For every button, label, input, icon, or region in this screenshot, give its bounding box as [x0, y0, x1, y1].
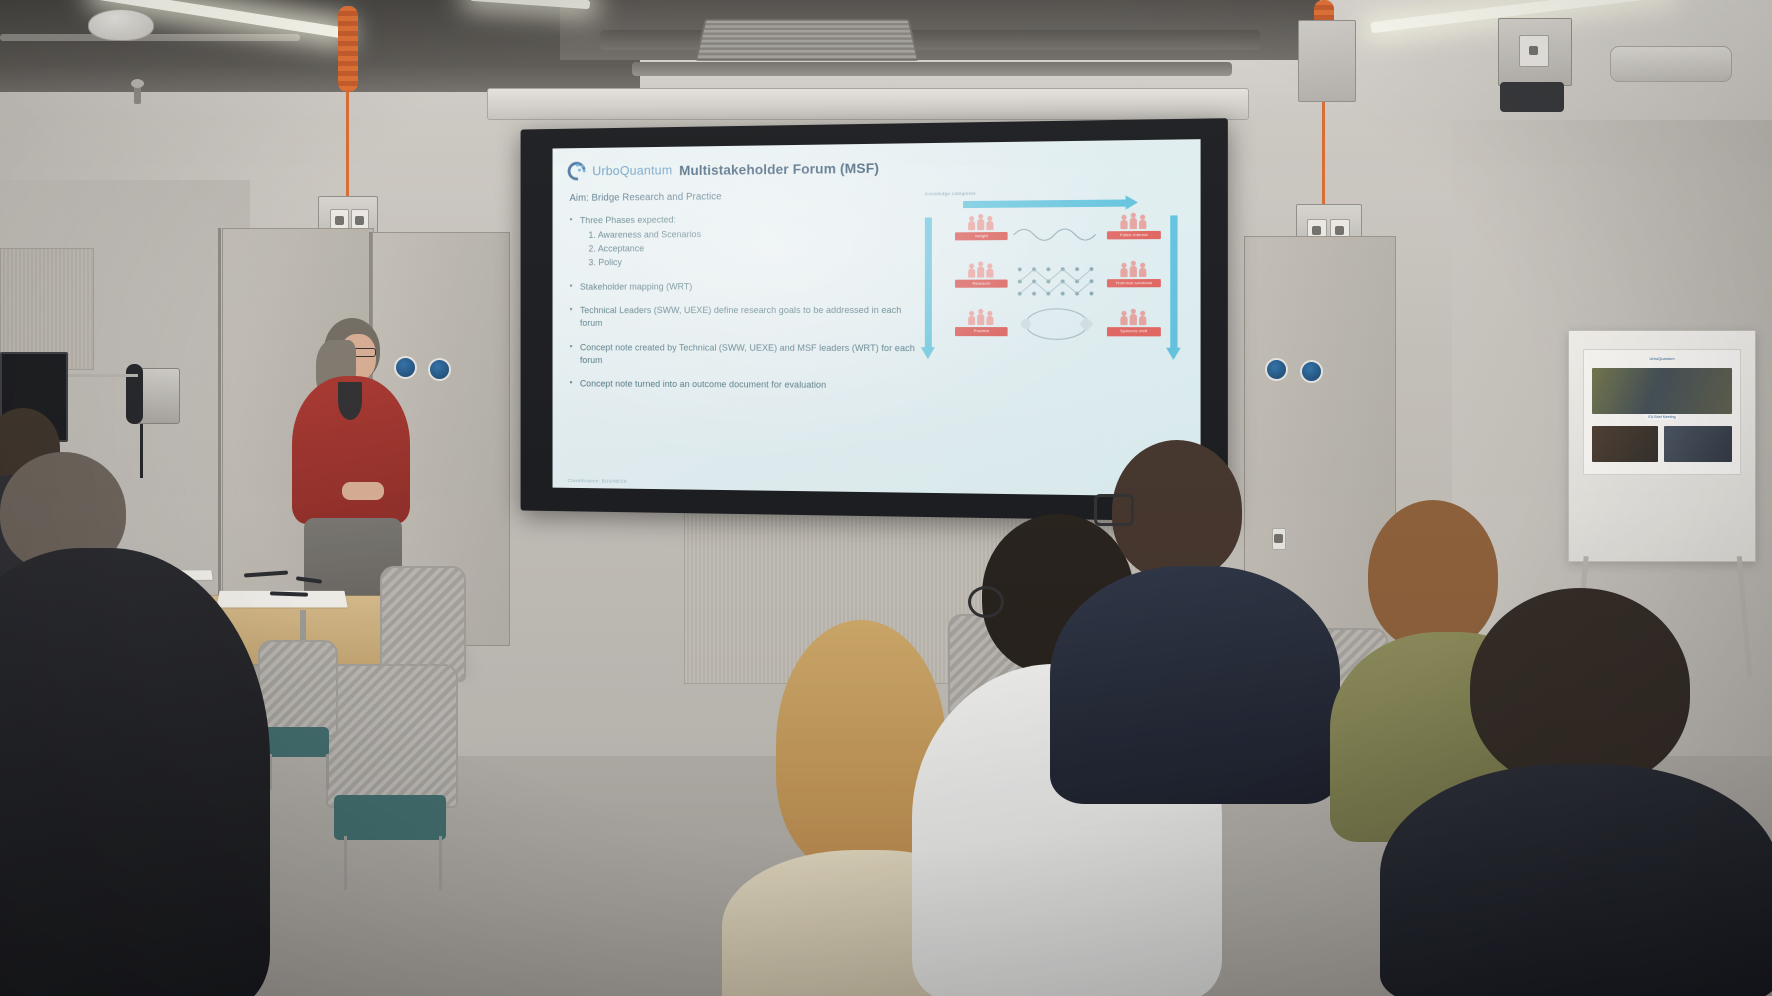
people-group-icon — [968, 310, 994, 325]
wall-poster: UrboQuantum EU Brief Meeting — [1583, 349, 1741, 475]
diagram-node-label: Practice — [955, 327, 1008, 335]
diagram-svg — [1012, 218, 1115, 349]
slide-aim: Aim: Bridge Research and Practice — [570, 189, 916, 203]
slide-text-column: Aim: Bridge Research and Practice Three … — [568, 189, 915, 404]
torso — [1380, 764, 1772, 996]
slide-phase-list: Awareness and Scenarios Acceptance Polic… — [588, 227, 915, 270]
chair[interactable] — [326, 664, 454, 890]
phone-handset-icon[interactable] — [126, 364, 143, 424]
sprinkler-head-icon — [134, 86, 141, 104]
diagram-node: Research — [955, 263, 1008, 289]
flipchart-easel: UrboQuantum EU Brief Meeting — [1568, 330, 1756, 562]
head-hair — [1470, 588, 1690, 788]
slide-diagram: Knowledge categories Insight Researc — [919, 187, 1184, 406]
slide-bullet-item: Technical Leaders (SWW, UEXE) define res… — [568, 304, 915, 331]
urboquantum-logo-icon — [568, 162, 586, 181]
power-drop-cable-left — [346, 90, 349, 196]
slide-bullet-item: Concept note turned into an outcome docu… — [568, 378, 915, 393]
wall-socket-plate — [1498, 18, 1572, 86]
people-group-icon — [968, 215, 994, 230]
orange-coiled-cable-left — [338, 6, 358, 92]
ceiling-beam — [632, 62, 1232, 76]
power-box-right-upper — [1298, 20, 1356, 102]
diagram-node-label: Insight — [955, 232, 1008, 241]
diagram-caption: Knowledge categories — [925, 191, 976, 197]
poster-logo-wordmark: UrboQuantum — [1649, 356, 1674, 361]
audience-member-left-front — [0, 452, 270, 996]
people-group-icon — [1120, 214, 1147, 230]
diagram-right-nodes: Public interest Technical solutions Syst… — [1107, 213, 1161, 335]
projector-screen-housing — [487, 88, 1249, 120]
door-badge-icon — [428, 358, 451, 381]
poster-photo — [1592, 368, 1732, 414]
slide-bullet-item: Stakeholder mapping (WRT) — [568, 280, 915, 294]
seminar-room-photo: UrboQuantum Multistakeholder Forum (MSF)… — [0, 0, 1772, 996]
diagram-arrow-down-left-icon — [925, 217, 932, 348]
diagram-node-label: Public interest — [1107, 231, 1161, 240]
slide-bullet-list: Three Phases expected: Awareness and Sce… — [568, 212, 915, 394]
slide-body: Aim: Bridge Research and Practice Three … — [568, 187, 1184, 406]
diagram-node: Systemic shift — [1107, 310, 1161, 336]
diagram-left-nodes: Insight Research Practice — [955, 215, 1008, 336]
diagram-node: Technical solutions — [1107, 262, 1161, 288]
slide-logo-wordmark: UrboQuantum — [592, 163, 672, 179]
diagram-node-label: Research — [955, 280, 1008, 288]
power-socket-icon[interactable] — [1519, 35, 1549, 67]
slide-bullet-item: Concept note created by Technical (SWW, … — [568, 341, 915, 368]
bullet-text: Three Phases expected: — [580, 215, 676, 226]
ceiling-mount-bracket — [1500, 82, 1564, 112]
diagram-node: Insight — [955, 215, 1008, 241]
torso — [0, 548, 270, 996]
ceiling-speaker — [1610, 46, 1732, 82]
slide-classification-footer: Classification: BUSINESS — [568, 478, 627, 484]
phase-item: Policy — [588, 255, 915, 270]
poster-photo — [1664, 426, 1732, 462]
cable-tray — [0, 34, 300, 41]
slide-title: Multistakeholder Forum (MSF) — [679, 159, 879, 177]
people-group-icon — [1120, 310, 1147, 325]
presenter-hands — [342, 482, 384, 500]
door-badge-icon — [1300, 360, 1323, 383]
people-group-icon — [968, 263, 994, 278]
torso — [1050, 566, 1340, 804]
audience-member-navy — [1066, 440, 1326, 790]
diagram-midgraphics — [1012, 218, 1115, 349]
diagram-node: Public interest — [1107, 213, 1161, 239]
poster-caption: EU Brief Meeting — [1645, 414, 1678, 420]
air-vent — [695, 19, 919, 61]
slide-header: UrboQuantum Multistakeholder Forum (MSF) — [568, 154, 1184, 181]
diagram-node: Practice — [955, 310, 1008, 335]
diagram-node-label: Technical solutions — [1107, 279, 1161, 288]
glasses-icon — [1094, 494, 1134, 526]
dome-camera-icon — [88, 9, 154, 41]
poster-photo — [1592, 426, 1658, 462]
glasses-icon — [968, 586, 1004, 618]
door-badge-icon — [1265, 358, 1288, 381]
diagram-node-label: Systemic shift — [1107, 327, 1161, 335]
audience-member-right-front — [1390, 588, 1772, 996]
diagram-arrow-right-icon — [963, 199, 1127, 208]
diagram-arrow-down-right-icon — [1170, 215, 1177, 348]
monitor-cable — [68, 374, 138, 377]
people-group-icon — [1120, 262, 1147, 277]
slide-bullet-item: Three Phases expected: Awareness and Sce… — [568, 212, 915, 270]
presenter-inner-top — [338, 382, 362, 420]
